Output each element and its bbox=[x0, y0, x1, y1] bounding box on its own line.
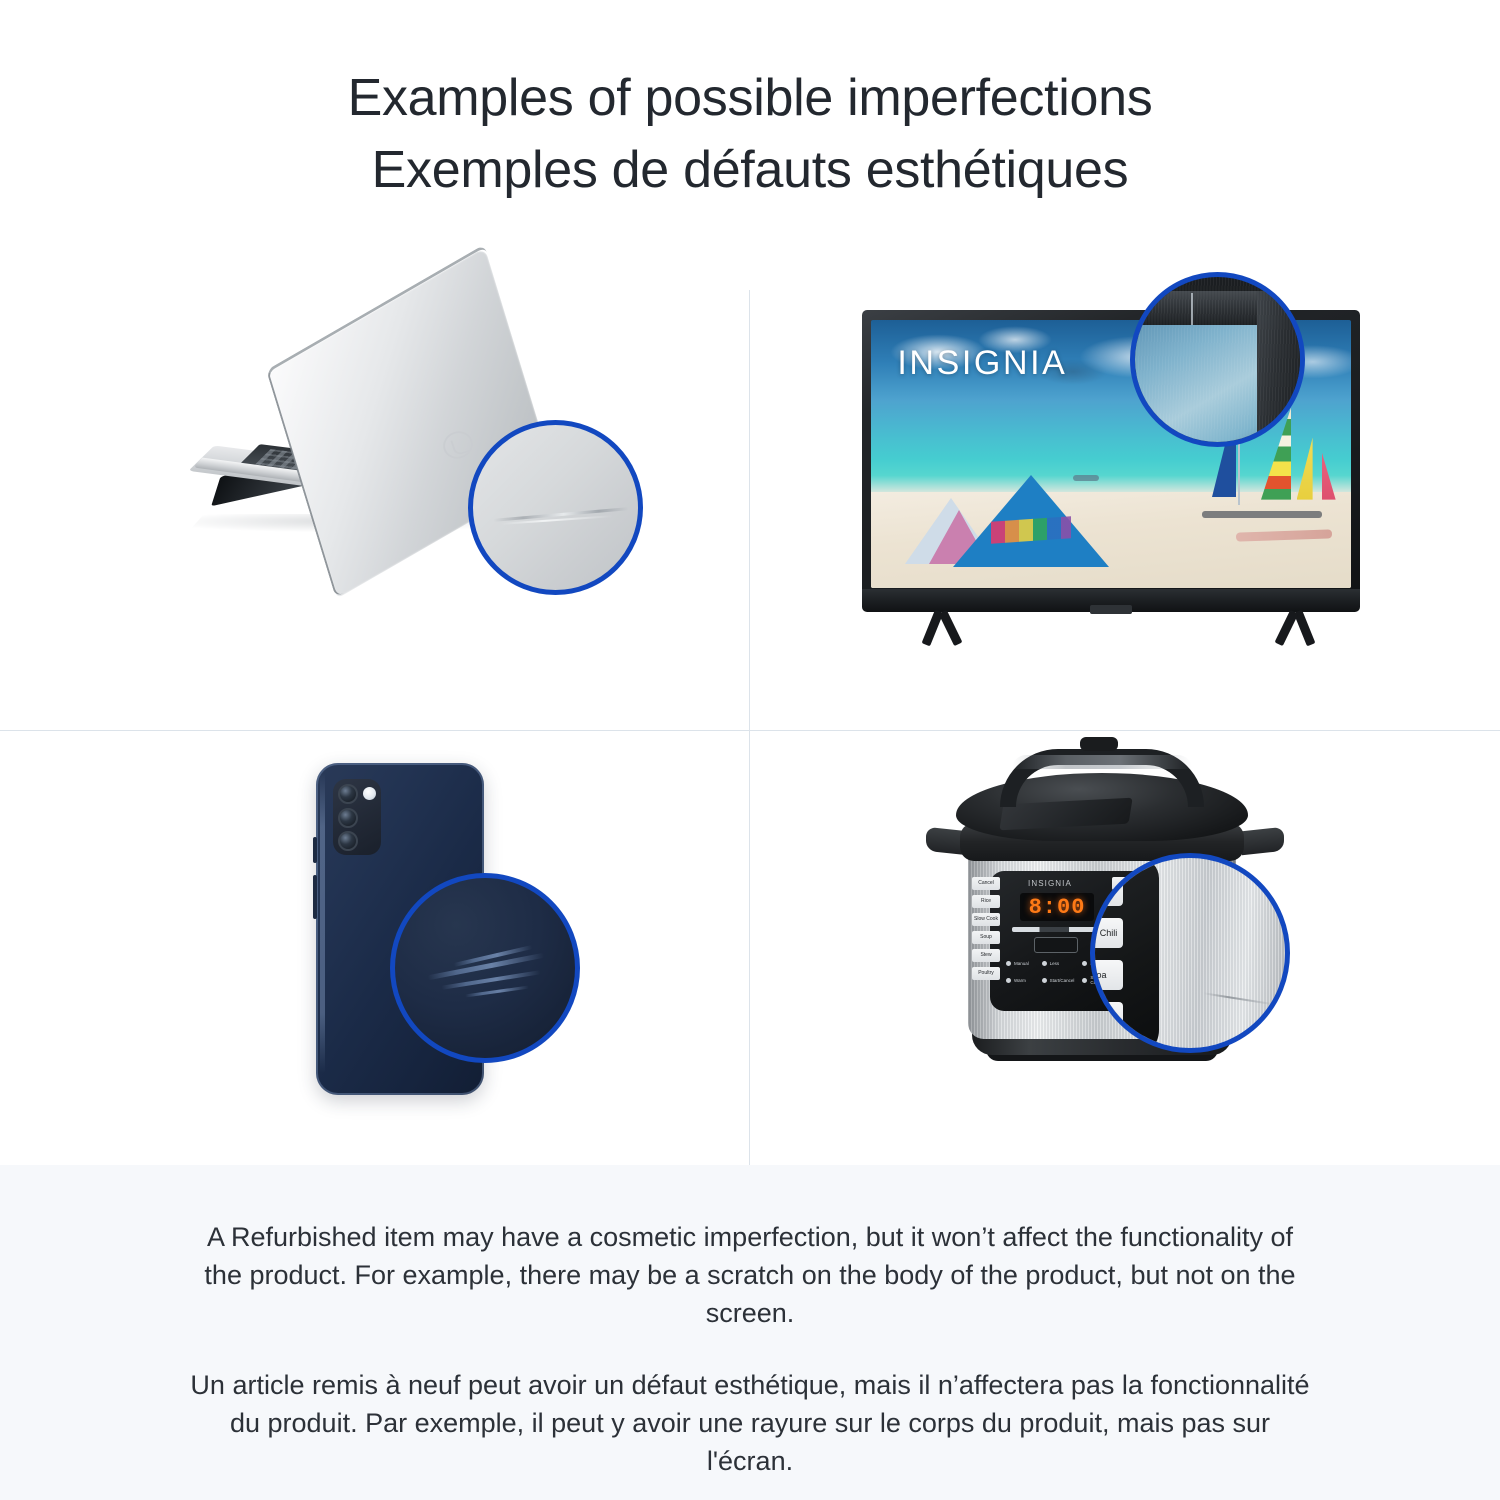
indicator-dot-icon bbox=[1006, 961, 1011, 966]
magnified-key-quinoa[interactable]: Quinoa bbox=[1090, 960, 1123, 990]
cooker-handle-highlight bbox=[1012, 755, 1192, 769]
television-foot-left bbox=[906, 610, 974, 644]
camera-lens-icon bbox=[338, 831, 358, 851]
camera-lens-icon bbox=[338, 784, 358, 804]
cooker-left-button-column: Cancel Rice Slow Cook Soup Stew Poultry bbox=[972, 877, 1000, 980]
indicator-dot-icon bbox=[1042, 961, 1047, 966]
camera-lens-icon bbox=[338, 808, 358, 828]
description-english: A Refurbished item may have a cosmetic i… bbox=[185, 1218, 1315, 1332]
indicator-dot-icon bbox=[1042, 978, 1047, 983]
television-magnifier-circle bbox=[1130, 272, 1305, 447]
cooker-key-start-cancel[interactable]: Start/Cancel bbox=[1042, 974, 1075, 986]
panel-laptop bbox=[0, 262, 749, 730]
television-screen-brand: INSIGNIA bbox=[897, 344, 1067, 383]
cooker-key-soup[interactable]: Soup bbox=[972, 931, 1000, 944]
screen-tent-blue bbox=[953, 475, 1109, 567]
magnified-key-cake[interactable]: Cake bbox=[1090, 1002, 1123, 1032]
examples-grid: INSIGNIA bbox=[0, 262, 1500, 1165]
smartphone-power-button bbox=[313, 875, 317, 919]
cooker-key-cancel[interactable]: Cancel bbox=[972, 877, 1000, 890]
cooker-key-poultry[interactable]: Poultry bbox=[972, 967, 1000, 980]
panel-television: INSIGNIA bbox=[750, 262, 1500, 730]
television-illustration: INSIGNIA bbox=[750, 262, 1500, 730]
indicator-dot-icon bbox=[1082, 978, 1087, 983]
screen-sail-yellow bbox=[1297, 438, 1313, 500]
camera-flash-icon bbox=[363, 787, 376, 800]
cooker-key-slow-cook[interactable]: Slow Cook bbox=[972, 913, 1000, 926]
magnified-bezel-grain bbox=[1135, 277, 1300, 442]
pressure-cooker-illustration: INSIGNIA 8:00 Cancel Rice Slow Cook Soup… bbox=[750, 731, 1500, 1165]
laptop-magnifier-circle bbox=[468, 420, 643, 595]
smartphone-scuff-mark bbox=[465, 986, 529, 998]
magnified-key-veggies[interactable]: Veggies bbox=[1090, 876, 1123, 906]
television-badge bbox=[1090, 605, 1132, 614]
smartphone-camera-module bbox=[333, 779, 381, 855]
smartphone-volume-button bbox=[313, 837, 317, 863]
magnified-button-column: Veggies Beans / Chili Quinoa Cake bbox=[1090, 876, 1123, 1032]
cooker-pressure-indicator-bar bbox=[1012, 927, 1104, 932]
header: Examples of possible imperfections Exemp… bbox=[0, 0, 1500, 262]
indicator-dot-icon bbox=[1006, 978, 1011, 983]
cooker-handle-right bbox=[1242, 827, 1284, 855]
refurbished-imperfections-infographic: Examples of possible imperfections Exemp… bbox=[0, 0, 1500, 1500]
laptop-illustration bbox=[0, 262, 749, 730]
cooker-key-stew[interactable]: Stew bbox=[972, 949, 1000, 962]
page-title-french: Exemples de défauts esthétiques bbox=[372, 134, 1129, 206]
cooker-brand-label: INSIGNIA bbox=[1028, 879, 1072, 888]
panel-smartphone bbox=[0, 731, 749, 1165]
panel-pressure-cooker: INSIGNIA 8:00 Cancel Rice Slow Cook Soup… bbox=[750, 731, 1500, 1165]
cooker-magnifier-circle: Delay Slow Cook Veggies Beans / Chili Qu… bbox=[1090, 853, 1290, 1053]
cooker-pressure-valve bbox=[1080, 737, 1118, 751]
cooker-timer-value: 8:00 bbox=[1029, 895, 1086, 920]
footer-description: A Refurbished item may have a cosmetic i… bbox=[0, 1165, 1500, 1500]
cooker-key-less[interactable]: Less bbox=[1042, 957, 1075, 969]
screen-boat-hull bbox=[1202, 511, 1322, 518]
cooker-led-display: 8:00 bbox=[1020, 893, 1094, 921]
page-title-english: Examples of possible imperfections bbox=[348, 62, 1153, 134]
smartphone-magnifier-circle bbox=[390, 873, 580, 1063]
smartphone-illustration bbox=[0, 731, 749, 1165]
cooker-key-manual[interactable]: Manual bbox=[1006, 957, 1034, 969]
magnified-control-panel: Delay Slow Cook Veggies Beans / Chili Qu… bbox=[1090, 858, 1159, 1053]
cooker-key-rice[interactable]: Rice bbox=[972, 895, 1000, 908]
magnified-key-beans-chili[interactable]: Beans / Chili bbox=[1090, 918, 1123, 948]
cooker-adjust-button[interactable] bbox=[1034, 937, 1078, 953]
smartphone-edge-highlight bbox=[320, 773, 325, 1073]
cooker-key-warm[interactable]: Warm bbox=[1006, 974, 1034, 986]
indicator-dot-icon bbox=[1082, 961, 1087, 966]
television-foot-right bbox=[1278, 610, 1346, 644]
description-french: Un article remis à neuf peut avoir un dé… bbox=[185, 1366, 1315, 1480]
